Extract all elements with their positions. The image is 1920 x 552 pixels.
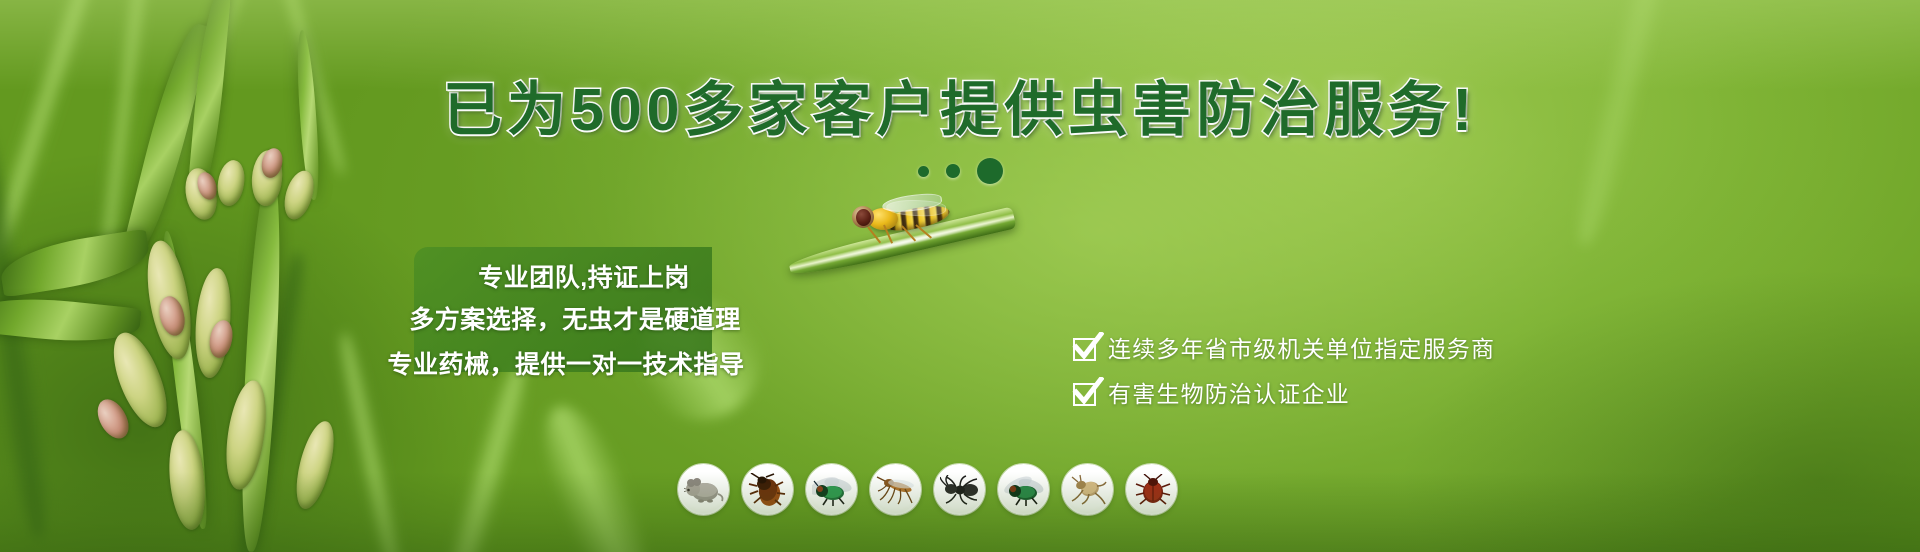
hoverfly-legs [868,224,938,248]
page-title: 已为500多家客户提供虫害防治服务! [0,76,1920,144]
decorative-dots [0,158,1920,184]
feature-panel-text: 专业团队,持证上岗 多方案选择，无虫才是硬道理 专业药械，提供一对一技术指导 [414,258,754,388]
bullet-label: 连续多年省市级机关单位指定服务商 [1108,336,1495,362]
bullet-label: 有害生物防治认证企业 [1108,381,1350,407]
panel-line-2: 多方案选择，无虫才是硬道理 [396,298,754,343]
hoverfly-icon [846,196,956,248]
panel-line-1: 专业团队,持证上岗 [414,258,754,298]
panel-line-3: 专业药械，提供一对一技术指导 [378,343,754,388]
ant-icon[interactable] [934,464,985,515]
dot-small-icon [918,166,929,177]
flea-icon[interactable] [1062,464,1113,515]
list-item: 连续多年省市级机关单位指定服务商 [1073,336,1495,362]
cockroach-icon[interactable] [742,464,793,515]
fly-icon[interactable] [806,464,857,515]
bedbug-icon[interactable] [1126,464,1177,515]
promotional-banner: 已为500多家客户提供虫害防治服务! 专业团队,持证上岗 多方案选择，无虫才是硬… [0,0,1920,552]
list-item: 有害生物防治认证企业 [1073,381,1495,407]
pest-icon-row [678,464,1177,515]
dot-large-icon [977,158,1003,184]
feature-bullet-list: 连续多年省市级机关单位指定服务商 有害生物防治认证企业 [1073,336,1495,426]
checkbox-checked-icon [1073,338,1096,361]
checkbox-checked-icon [1073,383,1096,406]
dot-medium-icon [946,164,960,178]
mosquito-icon[interactable] [870,464,921,515]
mouse-icon[interactable] [678,464,729,515]
blowfly-icon[interactable] [998,464,1049,515]
